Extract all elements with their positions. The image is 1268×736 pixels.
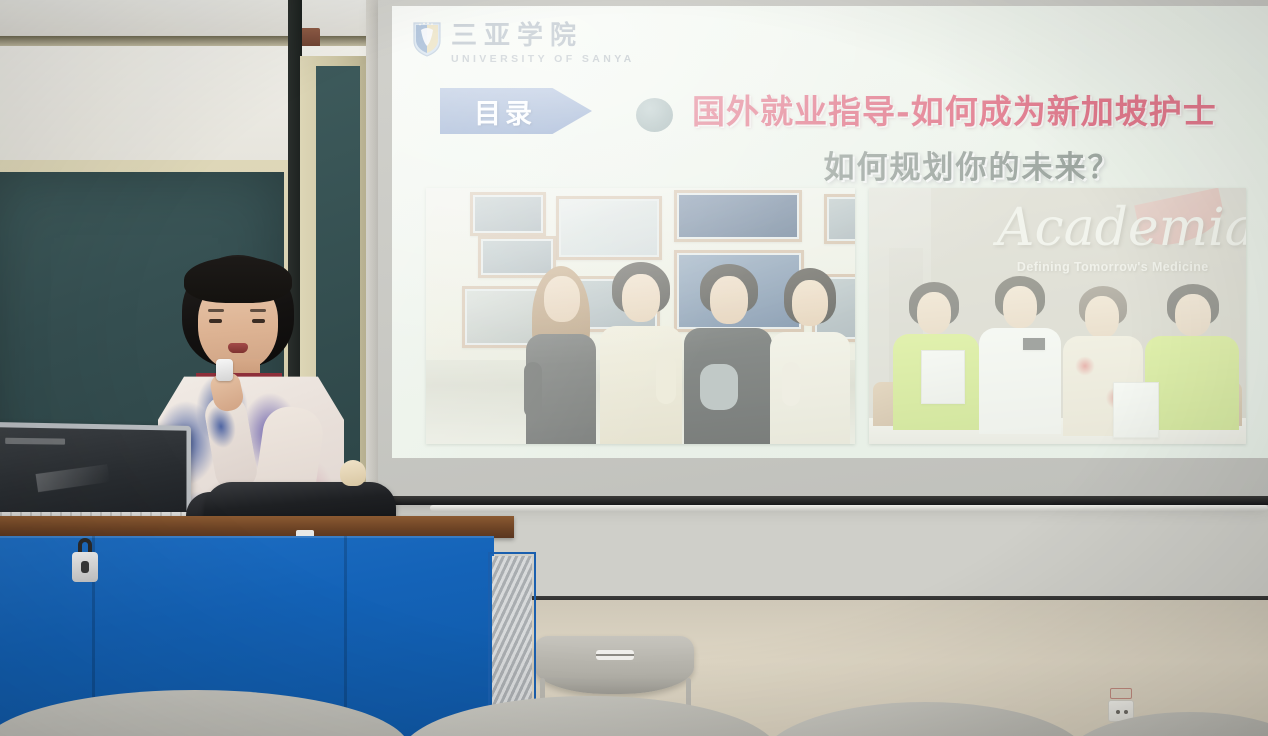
- presenter-brow: [250, 309, 266, 312]
- ceiling-wall: [0, 0, 400, 38]
- chair-handle-slot: [596, 650, 634, 660]
- person-figure: [598, 262, 684, 444]
- presenter-mouth: [228, 343, 248, 353]
- microphone: [216, 359, 233, 381]
- laptop-screen-glare: [36, 464, 110, 492]
- presenter-hair-fringe: [184, 257, 292, 303]
- certificate: [921, 350, 965, 404]
- academia-sign-tagline: Defining Tomorrow's Medicine: [1017, 260, 1209, 274]
- section-banner-arrow: 目录: [440, 88, 592, 134]
- framed-photo: [674, 190, 802, 242]
- group-photo-gallery-wall: [426, 188, 855, 444]
- slide-photo-row: Academia Defining Tomorrow's Medicine: [426, 188, 1246, 444]
- university-name-en: UNIVERSITY OF SANYA: [451, 54, 635, 65]
- person-figure: [1145, 284, 1239, 430]
- cup: [340, 460, 366, 486]
- slide-heading-primary: 国外就业指导-如何成为新加坡护士: [692, 94, 1262, 131]
- shield-crest-icon: [412, 20, 442, 58]
- person-figure: [770, 268, 852, 444]
- university-name-cn: 三亚学院: [451, 23, 635, 49]
- outlet-label: [1110, 688, 1132, 699]
- laptop-brand-logo: [5, 438, 65, 445]
- presenter-eye: [252, 319, 265, 323]
- bullet-circle-icon: [636, 98, 673, 132]
- section-banner-label: 目录: [474, 92, 536, 131]
- presenter-eye: [209, 319, 222, 323]
- projected-slide: 三亚学院 UNIVERSITY OF SANYA 目录 国外就业指导-如何成为新…: [392, 6, 1268, 458]
- certificate: [1113, 382, 1159, 438]
- person-figure: [682, 264, 774, 444]
- framed-photo: [556, 196, 662, 260]
- person-figure: [522, 266, 600, 444]
- padlock-icon[interactable]: [72, 552, 98, 582]
- university-logo: 三亚学院 UNIVERSITY OF SANYA: [412, 20, 635, 65]
- presenter-brow: [208, 309, 224, 312]
- section-banner: 目录: [440, 88, 592, 134]
- screen-rail: [430, 505, 1268, 511]
- logo-text-block: 三亚学院 UNIVERSITY OF SANYA: [451, 20, 635, 65]
- podium-desktop: [0, 516, 514, 538]
- classroom-chair: [534, 636, 694, 694]
- person-figure: [977, 276, 1063, 434]
- group-photo-academia: Academia Defining Tomorrow's Medicine: [869, 188, 1246, 444]
- slide-heading-secondary: 如何规划你的未来？: [692, 142, 1252, 187]
- screen-bottom-bar: [378, 496, 1268, 505]
- framed-photo: [824, 194, 855, 244]
- academia-sign-title: Academia: [997, 198, 1246, 258]
- framed-photo: [470, 192, 546, 236]
- classroom-scene: 三亚学院 UNIVERSITY OF SANYA 目录 国外就业指导-如何成为新…: [0, 0, 1268, 736]
